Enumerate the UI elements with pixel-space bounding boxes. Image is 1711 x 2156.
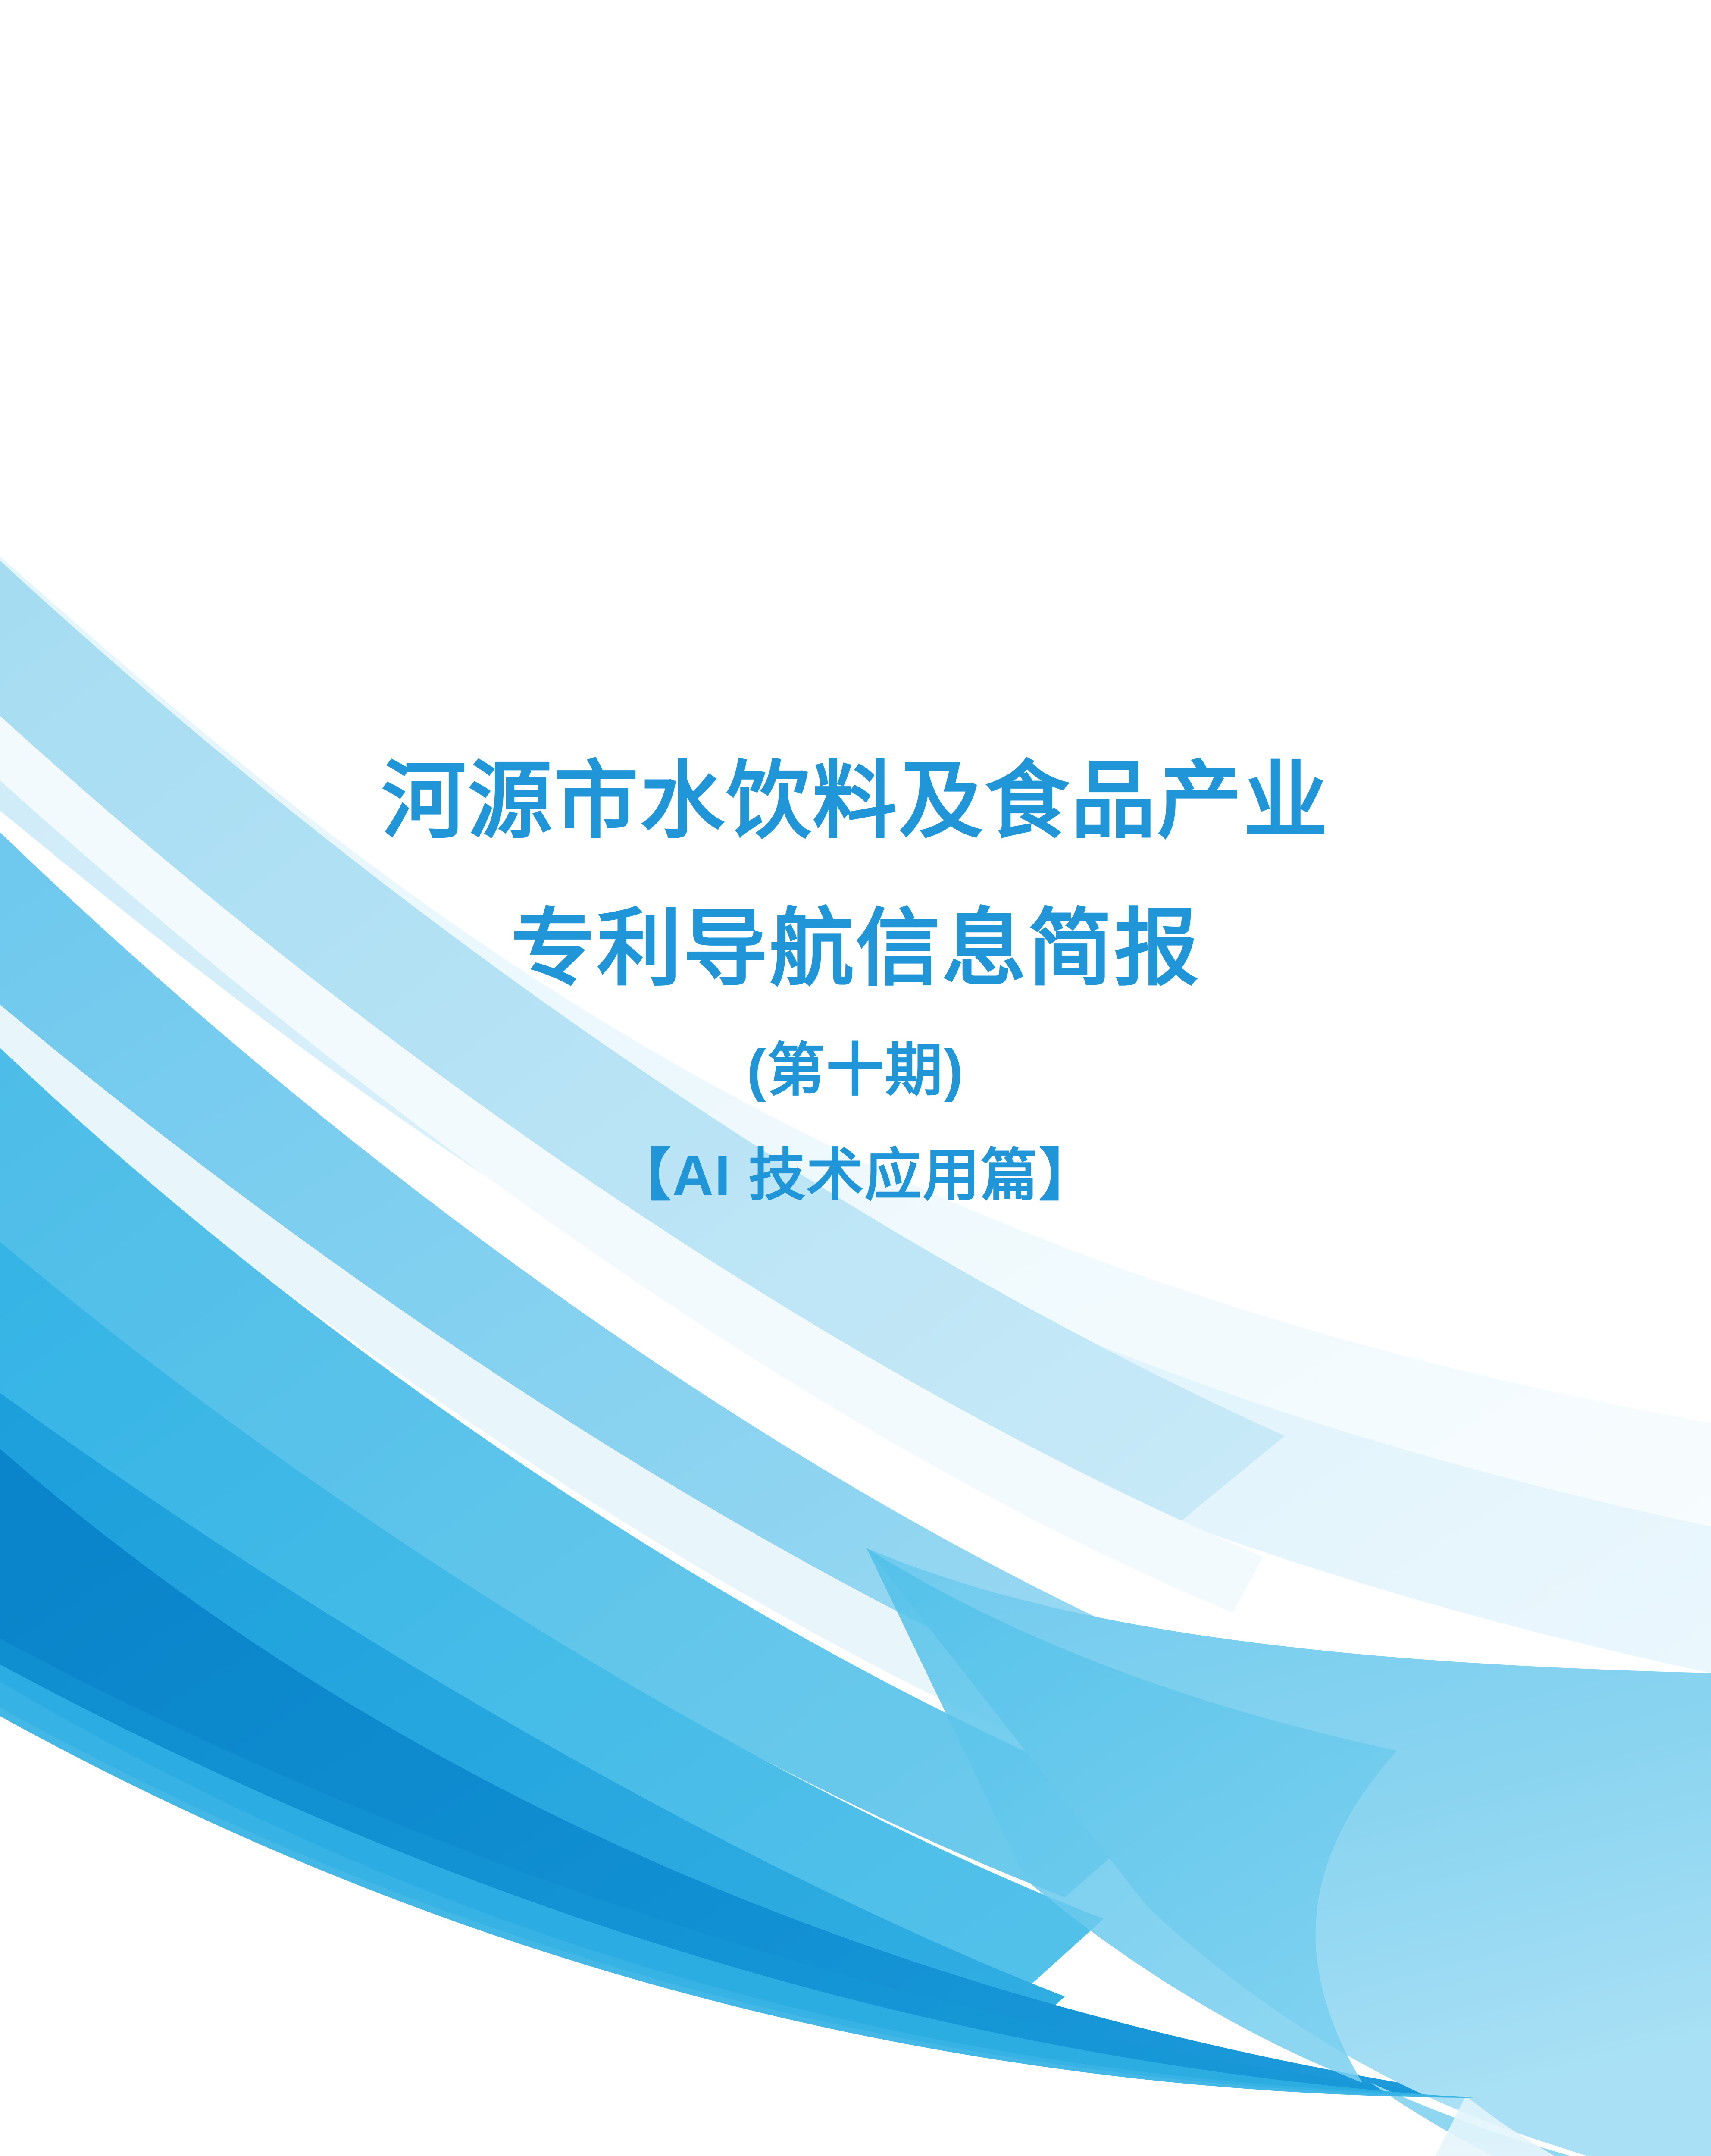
background-bottom-haze — [1436, 2096, 1711, 2156]
ribbon-wedge-tail — [0, 1664, 1474, 2098]
main-title-line-2: 专利导航信息简报 — [0, 906, 1711, 991]
report-cover-page: 河源市水饮料及食品产业 专利导航信息简报 (第十期) 【AI 技术应用篇】 河源… — [0, 0, 1711, 2156]
issue-number-label: (第十期) — [0, 1042, 1711, 1100]
ribbon-right-swoosh-tail — [1371, 2083, 1711, 2156]
ribbon-right-swoosh-shadow — [866, 1548, 1397, 2083]
title-block: 河源市水饮料及食品产业 专利导航信息简报 (第十期) 【AI 技术应用篇】 — [0, 759, 1711, 1204]
main-title-line-1: 河源市水饮料及食品产业 — [0, 759, 1711, 843]
ribbon-deep-blue-wedge — [0, 1449, 1479, 2096]
ribbon-bright-blue — [0, 1242, 1104, 2001]
ribbon-strong-blue — [0, 1393, 1065, 2040]
edition-tag-label: 【AI 技术应用篇】 — [0, 1147, 1711, 1204]
ribbon-deep-blue-highlight — [0, 1639, 1466, 2096]
ribbon-right-swoosh — [866, 1548, 1711, 2156]
